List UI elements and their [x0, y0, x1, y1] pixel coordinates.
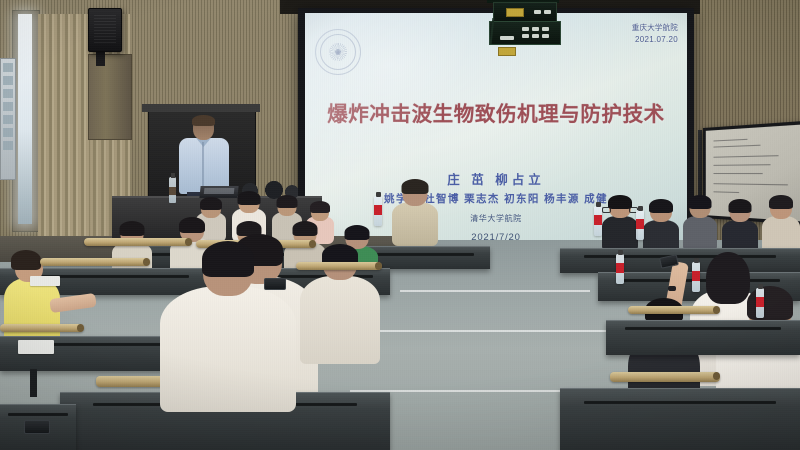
- paper-on-desk: [30, 276, 60, 286]
- attendee-hair: [769, 195, 793, 209]
- attendee-torso: [683, 216, 717, 252]
- water-bottle: [636, 210, 644, 240]
- paper-on-desk: [18, 340, 54, 354]
- wall-duct: [88, 54, 132, 140]
- projector-button: [542, 34, 549, 38]
- projector-button: [522, 27, 529, 31]
- desk-railing: [610, 372, 720, 382]
- attendee-hair: [120, 221, 145, 236]
- slide-corner-meta: 重庆大学航院 2021.07.20: [632, 23, 678, 45]
- speaker-mount: [96, 50, 105, 66]
- projector-button: [532, 27, 539, 31]
- projector-button: [500, 36, 514, 40]
- attendee-front-dark2: [683, 196, 717, 252]
- slide-authors-primary: 庄 茁 柳占立: [305, 169, 687, 188]
- slide-corner-date: 2021.07.20: [632, 34, 678, 46]
- projector-button: [532, 34, 539, 38]
- attendee-hair: [689, 195, 712, 209]
- attendee-hair: [310, 201, 330, 213]
- attendee-hair: [729, 199, 752, 213]
- attendee-torso: [392, 202, 438, 246]
- presenter-hair: [192, 115, 215, 126]
- smartphone: [24, 420, 50, 434]
- ceiling-projector-rack: [487, 0, 559, 46]
- wristwatch: [668, 286, 676, 291]
- projector-button: [522, 34, 529, 38]
- attendee-glasses-1: [602, 196, 638, 252]
- attendee-right-2: [762, 196, 800, 254]
- projector-led-icon: [506, 8, 524, 17]
- attendee-hair: [238, 191, 261, 205]
- attendee-hair: [11, 250, 41, 270]
- attendee-hair: [747, 286, 793, 320]
- attendee-torso: [602, 216, 638, 252]
- attendee-front-beige: [392, 180, 438, 246]
- attendee-hair: [202, 241, 254, 277]
- attendee-hair: [402, 179, 429, 194]
- floor-step-edge: [400, 290, 590, 292]
- desk-railing: [40, 258, 150, 266]
- glasses-icon: [602, 207, 638, 211]
- slide-title: 爆炸冲击波生物致伤机理与防护技术: [305, 97, 687, 127]
- bottle-on-podium: [169, 177, 176, 203]
- attendee-hair: [179, 217, 205, 233]
- desk-row-mid-right: [606, 320, 800, 355]
- water-bottle: [756, 288, 764, 318]
- attendee-hair: [649, 199, 673, 213]
- attendee-torso: [300, 276, 380, 364]
- window-light-strip: [18, 14, 32, 224]
- desk-row-front-right: [560, 388, 800, 450]
- water-bottle: [374, 196, 382, 226]
- attendee-torso: [160, 286, 296, 412]
- attendee-foreground-white: [160, 244, 296, 412]
- tsinghua-university-seal-icon: ★: [315, 29, 361, 75]
- attendee-right-1: [722, 200, 758, 254]
- attendee-hair: [345, 225, 370, 240]
- attendee-glasses-2: [643, 200, 679, 254]
- attendee-hair: [293, 221, 318, 236]
- slide-corner-org: 重庆大学航院: [632, 23, 678, 34]
- seal-star-icon: ★: [334, 49, 342, 57]
- podium-top: [142, 104, 260, 112]
- projector-unit-bottom: [489, 21, 561, 45]
- curtain-left: [38, 14, 90, 244]
- lecture-hall-photo: ★ 重庆大学航院 2021.07.20 爆炸冲击波生物致伤机理与防护技术 庄 茁…: [0, 0, 800, 450]
- projector-led-icon: [498, 47, 516, 56]
- water-bottle: [594, 206, 602, 236]
- wall-control-panel: [0, 58, 16, 180]
- projector-button: [542, 27, 549, 31]
- desk-railing: [628, 306, 720, 314]
- water-bottle: [692, 262, 700, 292]
- projector-unit-top: [493, 2, 557, 22]
- projector-button: [534, 10, 541, 14]
- presenter-placket: [202, 142, 204, 192]
- water-bottle: [616, 254, 624, 284]
- projector-button: [544, 10, 551, 14]
- ceiling-speaker: [88, 8, 122, 52]
- desk-railing: [0, 324, 84, 332]
- attendee-hair: [200, 197, 222, 210]
- desk-railing: [296, 262, 382, 270]
- attendee-hair: [277, 195, 298, 208]
